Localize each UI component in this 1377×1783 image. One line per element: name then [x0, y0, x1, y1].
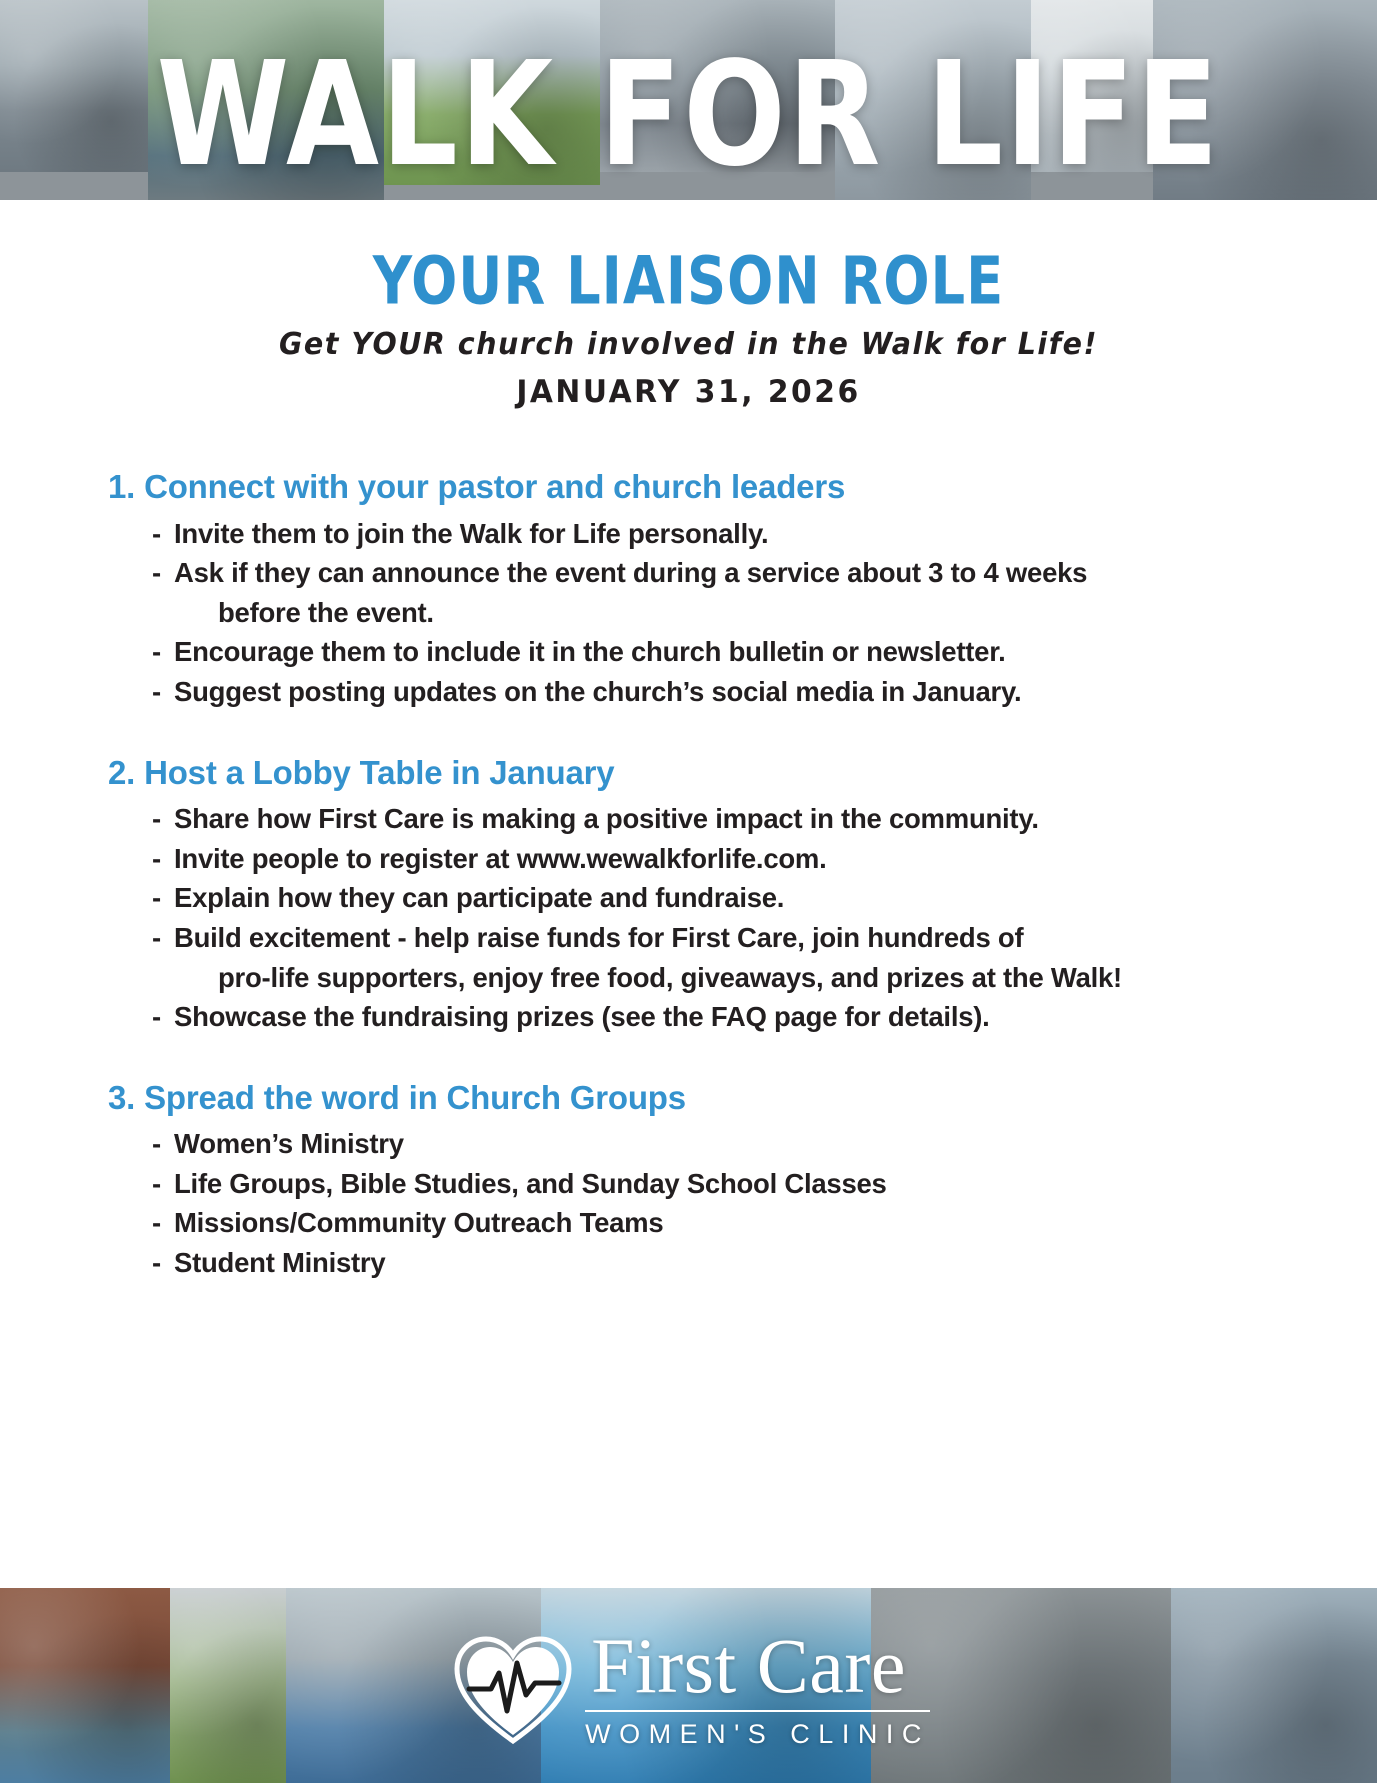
list-item: -Women’s Ministry [108, 1124, 1268, 1164]
bullet-dash-icon: - [152, 672, 161, 712]
list-item-text: Ask if they can announce the event durin… [174, 557, 1087, 588]
list-item-text: Encourage them to include it in the chur… [174, 636, 1006, 667]
bullet-dash-icon: - [152, 878, 161, 918]
bullet-dash-icon: - [152, 918, 161, 958]
list-item: -Missions/Community Outreach Teams [108, 1203, 1268, 1243]
list-item: -Showcase the fundraising prizes (see th… [108, 997, 1268, 1037]
list-item: -Life Groups, Bible Studies, and Sunday … [108, 1164, 1268, 1204]
bullet-list: -Women’s Ministry-Life Groups, Bible Stu… [108, 1124, 1268, 1282]
photo-girls-with-dog [871, 1588, 1171, 1783]
list-item-continuation: pro-life supporters, enjoy free food, gi… [174, 958, 1268, 998]
page-subtitle: Get YOUR church involved in the Walk for… [34, 328, 1342, 362]
list-item-text: Explain how they can participate and fun… [174, 882, 784, 913]
list-item-text: Women’s Ministry [174, 1128, 404, 1159]
event-date: JANUARY 31, 2026 [28, 374, 1350, 410]
bullet-dash-icon: - [152, 1243, 161, 1283]
photo-women-brick-wall [0, 1588, 170, 1783]
list-item-text: Showcase the fundraising prizes (see the… [174, 1001, 990, 1032]
bullet-dash-icon: - [152, 799, 161, 839]
page-title: YOUR LIAISON ROLE [21, 248, 1357, 317]
walk-for-life-wordmark: WALK FOR LIFE [0, 42, 1377, 186]
section-2: 2. Host a Lobby Table in January-Share h… [108, 752, 1268, 1037]
bullet-dash-icon: - [152, 997, 161, 1037]
list-item: -Suggest posting updates on the church’s… [108, 672, 1268, 712]
list-item: -Ask if they can announce the event duri… [108, 553, 1268, 632]
list-item-text: Share how First Care is making a positiv… [174, 803, 1039, 834]
photo-group-with-banner [1171, 1588, 1377, 1783]
bullet-dash-icon: - [152, 553, 161, 593]
bullet-dash-icon: - [152, 632, 161, 672]
list-item-continuation: before the event. [174, 593, 1268, 633]
instructions-body: 1. Connect with your pastor and church l… [108, 466, 1268, 1283]
bullet-dash-icon: - [152, 1203, 161, 1243]
bullet-dash-icon: - [152, 839, 161, 879]
footer-photo-band [0, 1588, 1377, 1783]
photo-man-with-child [286, 1588, 541, 1783]
list-item-text: Invite people to register at www.wewalkf… [174, 843, 827, 874]
section-heading: 2. Host a Lobby Table in January [108, 752, 1268, 794]
bullet-list: -Share how First Care is making a positi… [108, 799, 1268, 1037]
list-item: -Build excitement - help raise funds for… [108, 918, 1268, 997]
photo-hedge-greenery [170, 1588, 286, 1783]
bullet-dash-icon: - [152, 1164, 161, 1204]
list-item-text: Build excitement - help raise funds for … [174, 922, 1023, 953]
list-item-text: Invite them to join the Walk for Life pe… [174, 518, 768, 549]
section-heading: 1. Connect with your pastor and church l… [108, 466, 1268, 508]
list-item-text: Suggest posting updates on the church’s … [174, 676, 1021, 707]
list-item: -Student Ministry [108, 1243, 1268, 1283]
bullet-dash-icon: - [152, 1124, 161, 1164]
section-3: 3. Spread the word in Church Groups-Wome… [108, 1077, 1268, 1283]
bullet-list: -Invite them to join the Walk for Life p… [108, 514, 1268, 712]
list-item: -Encourage them to include it in the chu… [108, 632, 1268, 672]
photo-inflatable-slide [541, 1588, 871, 1783]
list-item: -Invite them to join the Walk for Life p… [108, 514, 1268, 554]
list-item-text: Life Groups, Bible Studies, and Sunday S… [174, 1168, 887, 1199]
bullet-dash-icon: - [152, 514, 161, 554]
list-item: -Share how First Care is making a positi… [108, 799, 1268, 839]
list-item-text: Missions/Community Outreach Teams [174, 1207, 663, 1238]
list-item: -Explain how they can participate and fu… [108, 878, 1268, 918]
list-item: -Invite people to register at www.wewalk… [108, 839, 1268, 879]
list-item-text: Student Ministry [174, 1247, 385, 1278]
title-block: YOUR LIAISON ROLE Get YOUR church involv… [0, 248, 1377, 410]
section-1: 1. Connect with your pastor and church l… [108, 466, 1268, 712]
flyer-page: WALK FOR LIFE YOUR LIAISON ROLE Get YOUR… [0, 0, 1377, 1783]
section-heading: 3. Spread the word in Church Groups [108, 1077, 1268, 1119]
